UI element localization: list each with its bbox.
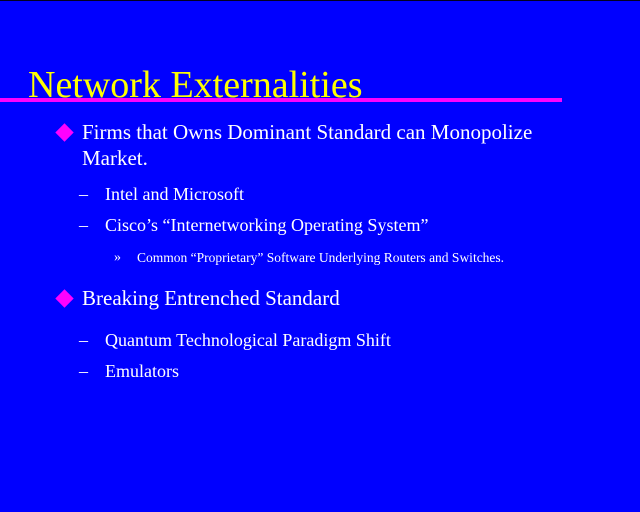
title-divider-rule — [0, 98, 562, 102]
bullet-level2: – Emulators — [0, 356, 640, 387]
dash-bullet-icon: – — [79, 179, 88, 210]
bullet-level1: Firms that Owns Dominant Standard can Mo… — [0, 119, 640, 171]
bullet-text: Emulators — [105, 361, 179, 381]
guillemet-bullet-icon: » — [114, 249, 121, 267]
bullet-level2: – Cisco’s “Internetworking Operating Sys… — [0, 210, 640, 241]
bullet-level2: – Quantum Technological Paradigm Shift — [0, 325, 640, 356]
bullet-text: Common “Proprietary” Software Underlying… — [137, 250, 504, 265]
dash-bullet-icon: – — [79, 210, 88, 241]
dash-bullet-icon: – — [79, 356, 88, 387]
bullet-level2: – Intel and Microsoft — [0, 179, 640, 210]
spacer — [0, 267, 640, 285]
bullet-text: Intel and Microsoft — [105, 184, 244, 204]
bullet-text: Cisco’s “Internetworking Operating Syste… — [105, 215, 428, 235]
spacer — [0, 311, 640, 325]
presentation-slide: Network Externalities Firms that Owns Do… — [0, 0, 640, 512]
spacer — [0, 171, 640, 179]
diamond-bullet-icon — [55, 289, 73, 307]
bullet-text: Firms that Owns Dominant Standard can Mo… — [82, 119, 580, 171]
bullet-text: Breaking Entrenched Standard — [82, 285, 580, 311]
dash-bullet-icon: – — [79, 325, 88, 356]
slide-body: Firms that Owns Dominant Standard can Mo… — [0, 119, 640, 387]
bullet-level3: » Common “Proprietary” Software Underlyi… — [0, 249, 640, 267]
spacer — [0, 241, 640, 249]
bullet-text: Quantum Technological Paradigm Shift — [105, 330, 391, 350]
bullet-level1: Breaking Entrenched Standard — [0, 285, 640, 311]
diamond-bullet-icon — [55, 123, 73, 141]
